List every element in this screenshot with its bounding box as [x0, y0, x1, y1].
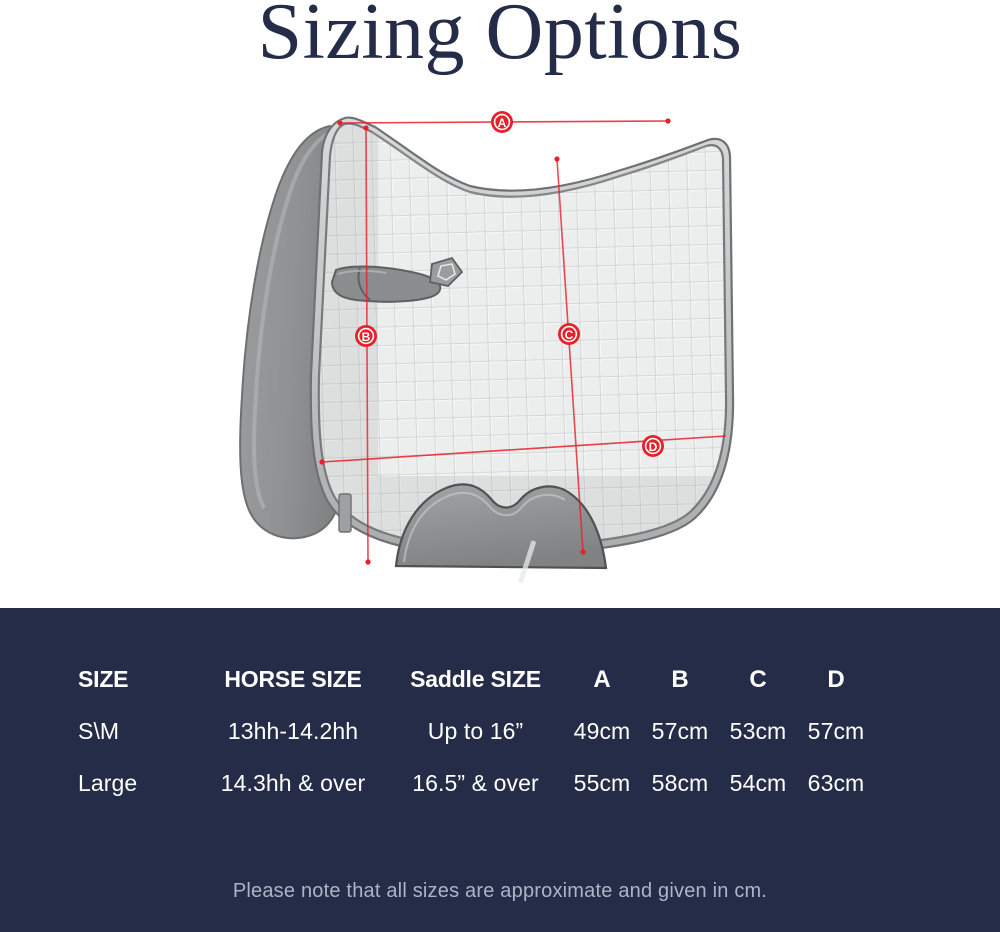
page-title-container: Sizing Options [0, 0, 1000, 88]
table-row: S\M 13hh-14.2hh Up to 16” 49cm 57cm 53cm… [0, 718, 1000, 770]
pad-body [318, 122, 738, 556]
marker-a-label: A [498, 116, 507, 130]
table-header-row: SIZE HORSE SIZE Saddle SIZE A B C D [0, 666, 1000, 718]
cell-c: 53cm [719, 718, 797, 745]
column-header-d: D [797, 666, 875, 694]
page-title: Sizing Options [0, 0, 1000, 80]
marker-c-label: C [565, 328, 574, 342]
marker-c: C [558, 323, 580, 345]
marker-d-label: D [649, 440, 658, 454]
saddle-pad-diagram: A B C D [0, 96, 1000, 596]
sizing-footnote: Please note that all sizes are approxima… [0, 880, 1000, 903]
cell-b: 57cm [641, 718, 719, 745]
cell-a: 55cm [563, 770, 641, 797]
marker-d: D [642, 435, 664, 457]
column-header-b: B [641, 666, 719, 694]
cell-saddle-size: 16.5” & over [388, 770, 563, 797]
marker-b-label: B [362, 330, 371, 344]
column-header-horse-size: HORSE SIZE [198, 666, 388, 693]
cell-horse-size: 14.3hh & over [198, 770, 388, 797]
cell-size: S\M [78, 718, 198, 745]
cell-b: 58cm [641, 770, 719, 797]
sizing-table: SIZE HORSE SIZE Saddle SIZE A B C D S\M … [0, 666, 1000, 822]
cell-saddle-size: Up to 16” [388, 718, 563, 745]
cell-d: 63cm [797, 770, 875, 797]
side-brand-tab [339, 494, 351, 532]
sizing-options-page: Sizing Options [0, 0, 1000, 932]
marker-b: B [355, 325, 377, 347]
cell-horse-size: 13hh-14.2hh [198, 718, 388, 745]
column-header-c: C [719, 666, 797, 694]
table-row: Large 14.3hh & over 16.5” & over 55cm 58… [0, 770, 1000, 822]
column-header-size: SIZE [78, 666, 198, 693]
cell-c: 54cm [719, 770, 797, 797]
marker-a: A [491, 111, 513, 133]
cell-d: 57cm [797, 718, 875, 745]
cell-a: 49cm [563, 718, 641, 745]
cell-size: Large [78, 770, 198, 797]
sizing-table-panel: SIZE HORSE SIZE Saddle SIZE A B C D S\M … [0, 608, 1000, 932]
column-header-a: A [563, 666, 641, 694]
column-header-saddle-size: Saddle SIZE [388, 666, 563, 693]
